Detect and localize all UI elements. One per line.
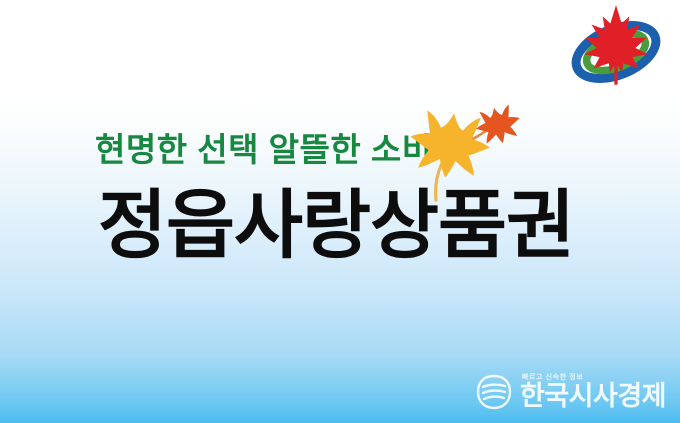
promo-poster: 현명한 선택 알뜰한 소비 정읍사랑상품권 xyxy=(0,0,680,423)
jeongeup-city-emblem-logo xyxy=(571,4,661,92)
page-title: 정읍사랑상품권 xyxy=(98,186,574,265)
watermark-text: 빠르고 신속한 정보 한국시사경제 xyxy=(520,374,666,410)
wave-leaf-icon xyxy=(475,373,513,411)
publisher-watermark: 빠르고 신속한 정보 한국시사경제 xyxy=(475,373,666,411)
poster-tagline: 현명한 선택 알뜰한 소비 xyxy=(95,133,433,166)
watermark-brand-name: 한국시사경제 xyxy=(520,383,666,410)
watermark-subtitle: 빠르고 신속한 정보 xyxy=(522,374,583,381)
